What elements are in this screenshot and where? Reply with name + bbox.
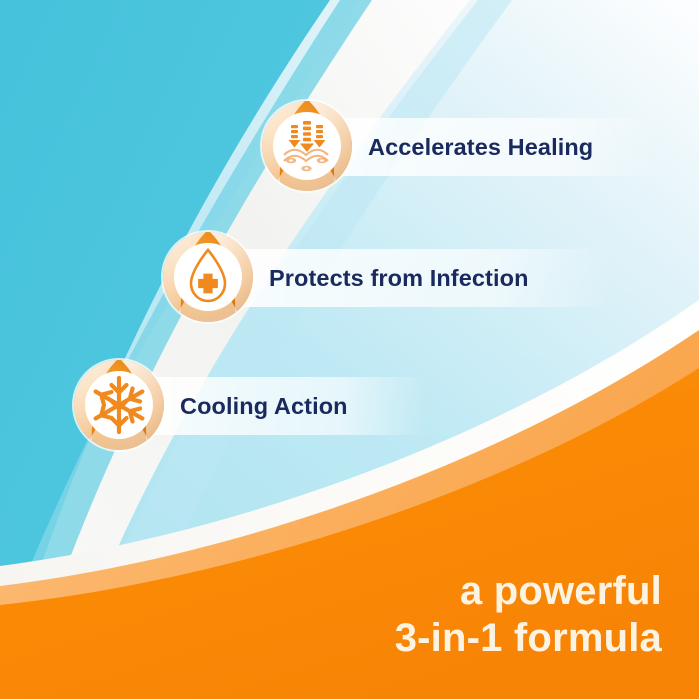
snowflake-icon [70,356,168,454]
droplet-cross-icon [159,228,257,326]
feature-label: Cooling Action [180,393,348,420]
feature-label-pill: Accelerates Healing [306,118,658,176]
feature-label-pill: Protects from Infection [207,249,611,307]
feature-item-cooling-action[interactable]: Cooling Action [70,356,168,454]
tagline-line-2: 3-in-1 formula [395,615,662,661]
tagline: a powerful 3-in-1 formula [395,568,662,661]
healing-arrows-icon [258,97,356,195]
promo-banner: Accelerates Healing [0,0,699,699]
feature-label: Protects from Infection [269,265,529,292]
feature-item-accelerates-healing[interactable]: Accelerates Healing [258,97,356,195]
tagline-line-1: a powerful [395,568,662,614]
feature-label: Accelerates Healing [368,134,593,161]
feature-item-protects-from-infection[interactable]: Protects from Infection [159,228,257,326]
